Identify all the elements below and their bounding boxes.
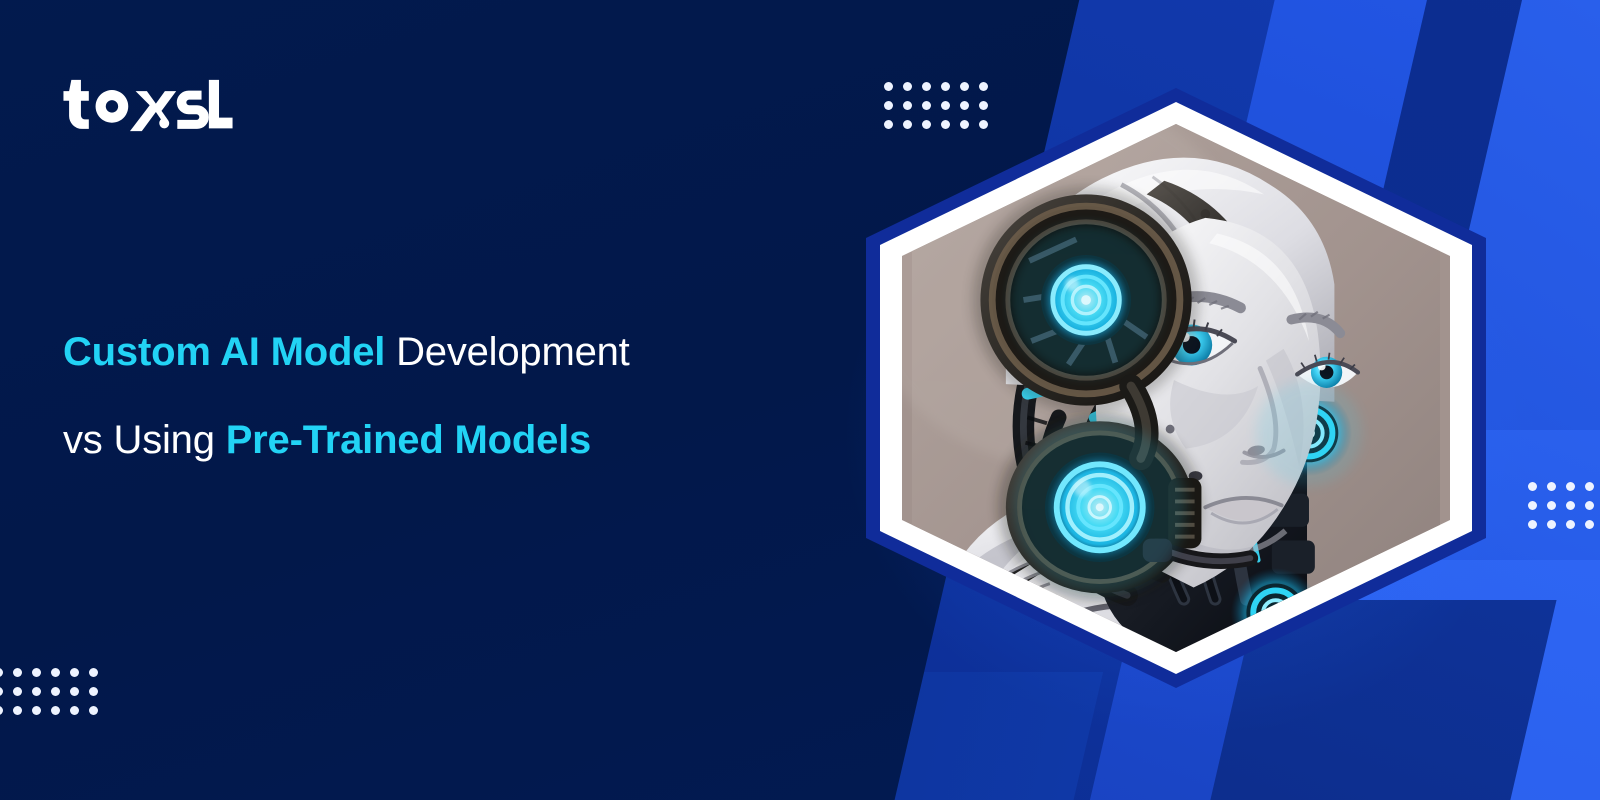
robot-portrait-alt: Humanoid AI robot head in profile with g…	[902, 124, 903, 125]
headline-line-1: Custom AI Model Development	[63, 308, 883, 396]
headline: Custom AI Model Development vs Using Pre…	[63, 308, 883, 484]
promo-banner: toXSL Custom AI Model Development vs Usi…	[0, 0, 1600, 800]
toxsl-wordmark-logo-icon	[63, 72, 233, 134]
hero-image-hexagon: Humanoid AI robot head in profile with g…	[866, 88, 1486, 688]
toxsl-logo[interactable]: toXSL	[63, 72, 233, 134]
headline-line-1-accent: Custom AI Model	[63, 330, 385, 374]
headline-line-2-plain: vs Using	[63, 418, 226, 462]
headline-line-2: vs Using Pre-Trained Models	[63, 396, 883, 484]
dot-grid-icon-right	[1528, 482, 1599, 534]
headline-line-1-plain: Development	[385, 330, 629, 374]
headline-line-2-accent: Pre-Trained Models	[226, 418, 591, 462]
dot-grid-icon-bottom-left	[0, 668, 103, 720]
